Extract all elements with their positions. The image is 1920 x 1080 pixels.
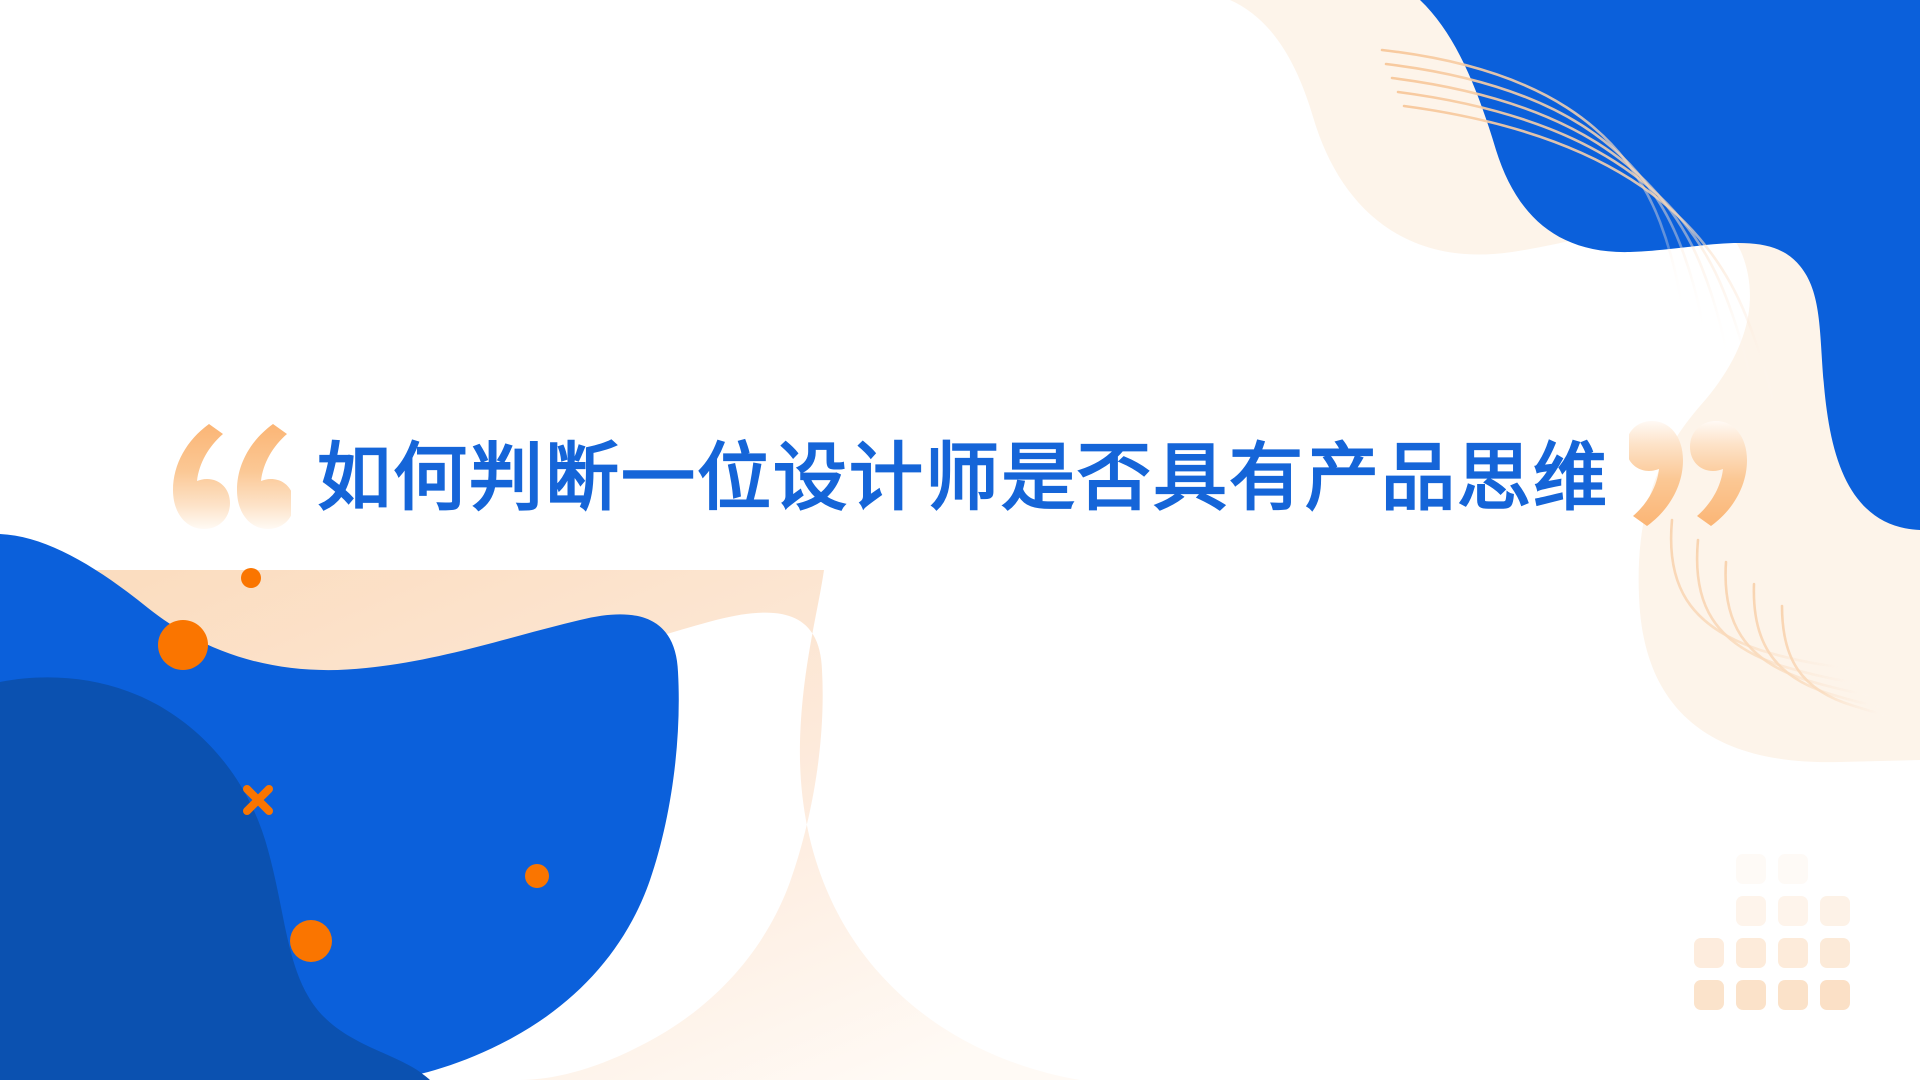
dot-grid-cell [1736, 854, 1766, 884]
dot-grid-cell [1820, 980, 1850, 1010]
dot-grid-cell [1736, 980, 1766, 1010]
dark-blue-blob-shape [0, 677, 430, 1080]
dot-grid-cell [1694, 938, 1724, 968]
dot-grid-cell [1778, 896, 1808, 926]
blue-blob-shape [0, 534, 679, 1080]
page-title: 如何判断一位设计师是否具有产品思维 [317, 441, 1609, 515]
close-quote-mark-icon [1629, 410, 1761, 540]
dot-grid-cell [1736, 938, 1766, 968]
dot-grid-cell [1820, 896, 1850, 926]
open-quote-mark-icon [159, 410, 291, 540]
dot-grid-cell [1820, 938, 1850, 968]
cream-wave-shape [1230, 0, 1920, 762]
orange-dot-small-top [241, 568, 261, 588]
peach-wave-shape [0, 570, 1080, 1080]
orange-cross-mark [247, 789, 269, 811]
dot-grid-cell [1694, 980, 1724, 1010]
dot-grid-cell [1778, 938, 1808, 968]
dot-grid-cell [1778, 980, 1808, 1010]
dot-grid-cell [1778, 854, 1808, 884]
orange-dot-small-middle [525, 864, 549, 888]
orange-dot-large-bottom [290, 920, 332, 962]
dot-grid-cell [1736, 896, 1766, 926]
orange-dot-large-left [158, 620, 208, 670]
title-row: 如何判断一位设计师是否具有产品思维 [0, 398, 1920, 558]
slide-canvas: 如何判断一位设计师是否具有产品思维 [0, 0, 1920, 1080]
dot-grid [1694, 854, 1862, 1022]
